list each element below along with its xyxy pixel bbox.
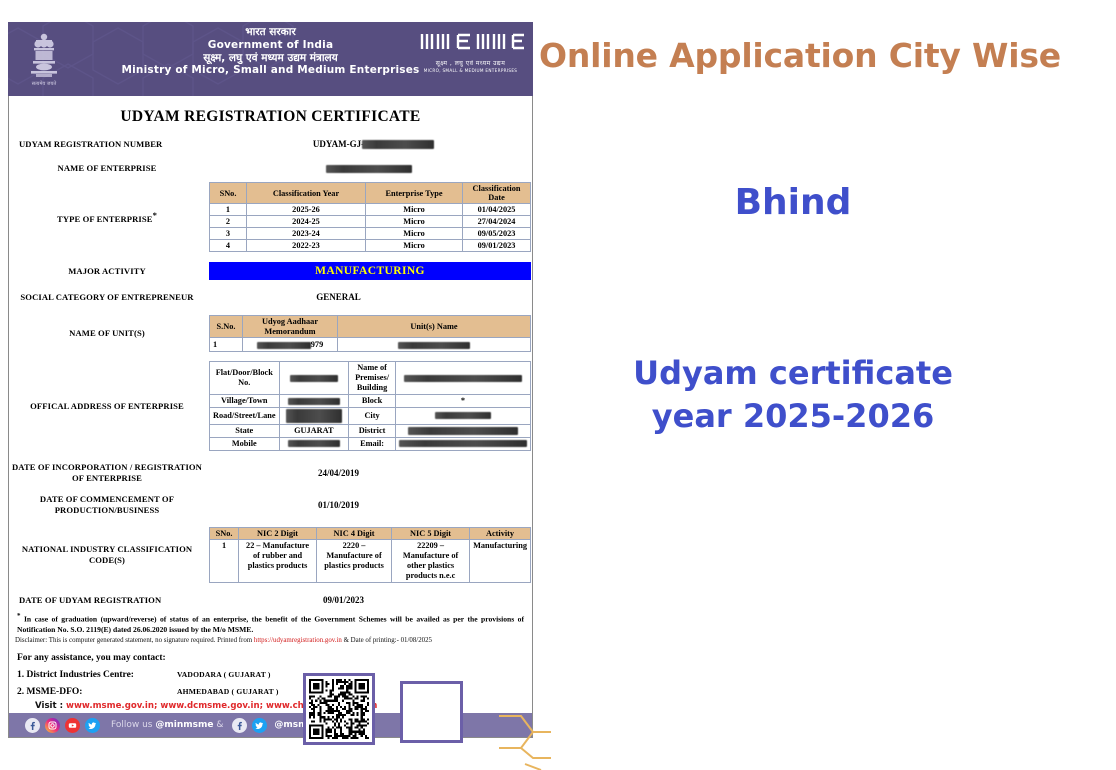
nic-table: SNo. NIC 2 Digit NIC 4 Digit NIC 5 Digit… [209,527,531,583]
msme-logo: सूक्ष्म , लघु एवं मध्यम उद्यम MICRO, SMA… [418,30,523,73]
major-activity-band-wrap: MANUFACTURING [205,262,531,280]
promo-subtitle-line2: year 2025-2026 [533,395,1053,438]
official-address-row: OFFICAL ADDRESS OF ENTERPRISE Flat/Door/… [9,361,532,451]
table-row: State GUJARAT District [210,424,531,437]
cell-value2 [396,424,531,437]
cell-date: 27/04/2024 [463,216,531,228]
visit-url-1[interactable]: www.msme.gov.in [66,701,154,711]
date-commencement-row: DATE OF COMMENCEMENT OF PRODUCTION/BUSIN… [9,494,532,515]
col-enterprise-type: Enterprise Type [366,183,463,204]
address-table: Flat/Door/Block No. Name of Premises/ Bu… [209,361,531,451]
table-header-row: SNo. NIC 2 Digit NIC 4 Digit NIC 5 Digit… [210,527,531,539]
col-classification-date: Classification Date [463,183,531,204]
cell-key: Village/Town [210,394,280,407]
units-table: S.No. Udyog Aadhaar Memorandum Unit(s) N… [209,315,531,352]
msme-wordmark-icon [418,30,528,52]
dic-label: 1. District Industries Centre: [17,670,177,680]
handle-minmsme[interactable]: @minmsme [155,720,213,730]
redaction-mark [290,375,338,382]
cell-value2: * [396,394,531,407]
type-of-enterprise-label-text: TYPE OF ENTERPRISE [57,214,153,224]
cell-key2: Name of Premises/ Building [349,362,396,395]
emblem-motto: सत्यमेव जयते [32,80,57,87]
cell-value: GUJARAT [279,424,349,437]
certificate-header-band: सत्यमेव जयते भारत सरकार Government of In… [8,22,533,96]
table-row: Road/Street/Lane City [210,407,531,424]
cell-key2: Block [349,394,396,407]
cell-udyog-aadhaar: 979 [243,338,338,352]
cell-sno: 4 [210,240,247,252]
cell-key: Road/Street/Lane [210,407,280,424]
cell-sno: 2 [210,216,247,228]
follow-amp: & [213,720,223,730]
major-activity-label: MAJOR ACTIVITY [9,266,205,277]
cell-key: State [210,424,280,437]
cell-udyog-suffix: 979 [311,340,323,349]
cell-year: 2023-24 [247,228,366,240]
date-incorporation-label: DATE OF INCORPORATION / REGISTRATION OF … [9,462,205,483]
udyam-number-prefix: UDYAM-GJ- [313,139,364,149]
redaction-mark [399,440,527,447]
twitter-icon[interactable] [252,718,267,733]
cell-value2 [396,362,531,395]
hexagon-decoration-icon [463,698,553,770]
redaction-mark [408,427,518,435]
col-udyog-aadhaar: Udyog Aadhaar Memorandum [243,316,338,338]
visit-label: Visit : [35,701,63,711]
promo-subtitle-line1: Udyam certificate [533,352,1053,395]
udyam-portal-link[interactable]: https://udyamregistration.gov.in [254,637,342,644]
contact-row-dic: 1. District Industries Centre: VADODARA … [9,663,532,680]
enterprise-name-label: NAME OF ENTERPRISE [9,163,205,174]
udyam-number-row: UDYAM REGISTRATION NUMBER UDYAM-GJ- [9,136,532,152]
cell-sno: 1 [210,338,243,352]
date-commencement-value: 01/10/2019 [205,500,532,510]
promo-title: Online Application City Wise [539,36,1114,75]
date-commencement-label: DATE OF COMMENCEMENT OF PRODUCTION/BUSIN… [9,494,205,515]
cell-value2 [396,407,531,424]
nic-table-wrap: SNo. NIC 2 Digit NIC 4 Digit NIC 5 Digit… [205,527,531,583]
cell-year: 2024-25 [247,216,366,228]
table-row: 3 2023-24 Micro 09/05/2023 [210,228,531,240]
nic-label: NATIONAL INDUSTRY CLASSIFICATION CODE(S) [9,544,205,565]
cell-nic5: 22209 – Manufacture of other plastics pr… [392,539,470,582]
redaction-mark [288,398,340,405]
cell-year: 2025-26 [247,204,366,216]
facebook-icon[interactable] [25,718,40,733]
promo-panel: Online Application City Wise Bhind Udyam… [533,0,1116,753]
official-address-label: OFFICAL ADDRESS OF ENTERPRISE [9,401,205,412]
cell-type: Micro [366,228,463,240]
col-sno: SNo. [210,527,239,539]
note-text: In case of graduation (upward/reverse) o… [17,615,524,634]
date-udyam-registration-row: DATE OF UDYAM REGISTRATION 09/01/2023 [9,592,532,608]
certificate-body: UDYAM REGISTRATION CERTIFICATE UDYAM REG… [8,96,533,738]
redaction-mark [404,375,522,382]
col-sno: SNo. [210,183,247,204]
major-activity-row: MAJOR ACTIVITY MANUFACTURING [9,262,532,280]
cell-key: Mobile [210,437,280,450]
redaction-mark [398,342,470,349]
cell-unit-name [338,338,531,352]
social-category-label: SOCIAL CATEGORY OF ENTREPRENEUR [9,292,205,303]
disclaimer-prefix: Disclaimer: This is computer generated s… [15,637,254,644]
disclaimer-suffix: & Date of printing:- 01/08/2025 [342,637,432,644]
cell-nic2: 22 – Manufacture of rubber and plastics … [239,539,317,582]
promo-subtitle: Udyam certificate year 2025-2026 [533,352,1053,438]
dfo-label: 2. MSME-DFO: [17,687,177,697]
classification-table-wrap: SNo. Classification Year Enterprise Type… [205,182,531,252]
cell-value2 [396,437,531,450]
disclaimer: Disclaimer: This is computer generated s… [9,635,532,645]
address-table-wrap: Flat/Door/Block No. Name of Premises/ Bu… [205,361,531,451]
qr-code[interactable] [303,673,375,745]
certificate-title: UDYAM REGISTRATION CERTIFICATE [9,96,532,134]
cell-year: 2022-23 [247,240,366,252]
name-of-units-row: NAME OF UNIT(S) S.No. Udyog Aadhaar Memo… [9,315,532,352]
graduation-note: * In case of graduation (upward/reverse)… [9,608,532,635]
classification-table: SNo. Classification Year Enterprise Type… [209,182,531,252]
enterprise-name-value [205,163,532,173]
cell-sno: 3 [210,228,247,240]
cell-key2: Email: [349,437,396,450]
follow-label: Follow us [111,720,155,730]
col-activity: Activity [470,527,531,539]
type-of-enterprise-label: TYPE OF ENTERPRISE* [9,210,205,225]
screenshot-root: सत्यमेव जयते भारत सरकार Government of In… [0,0,1116,753]
redaction-mark [286,409,342,423]
social-category-value: GENERAL [205,292,532,302]
qr-code-canvas [309,679,369,739]
cell-value [279,362,349,395]
cell-value [279,407,349,424]
date-incorporation-row: DATE OF INCORPORATION / REGISTRATION OF … [9,462,532,483]
date-udyam-registration-label: DATE OF UDYAM REGISTRATION [9,595,215,606]
visit-url-2[interactable]: www.dcmsme.gov.in [160,701,259,711]
table-row: Village/Town Block * [210,394,531,407]
social-category-row: SOCIAL CATEGORY OF ENTREPRENEUR GENERAL [9,289,532,305]
cell-type: Micro [366,216,463,228]
cell-sno: 1 [210,204,247,216]
major-activity-value: MANUFACTURING [209,262,531,280]
facebook-icon[interactable] [232,718,247,733]
name-of-units-label: NAME OF UNIT(S) [9,328,205,339]
col-sno: S.No. [210,316,243,338]
col-unit-name: Unit(s) Name [338,316,531,338]
table-row: 4 2022-23 Micro 09/01/2023 [210,240,531,252]
redaction-mark [288,440,340,447]
cell-value [279,394,349,407]
redaction-mark [362,140,434,149]
assistance-heading: For any assistance, you may contact: [9,645,532,663]
udyam-number-label: UDYAM REGISTRATION NUMBER [9,139,215,150]
udyam-certificate: सत्यमेव जयते भारत सरकार Government of In… [8,22,533,738]
msme-sub-english: MICRO, SMALL & MEDIUM ENTERPRISES [418,68,523,73]
table-row: 1 22 – Manufacture of rubber and plastic… [210,539,531,582]
cell-type: Micro [366,204,463,216]
cell-date: 09/05/2023 [463,228,531,240]
cell-type: Micro [366,240,463,252]
cell-key2: City [349,407,396,424]
msme-sub-hindi: सूक्ष्म , लघु एवं मध्यम उद्यम [418,59,523,67]
dic-value: VADODARA ( GUJARAT ) [177,670,271,679]
note-asterisk: * [17,612,21,620]
instagram-icon[interactable] [45,718,60,733]
table-header-row: SNo. Classification Year Enterprise Type… [210,183,531,204]
footnote-asterisk: * [153,210,157,220]
cell-date: 01/04/2025 [463,204,531,216]
empty-placeholder-box [400,681,463,743]
date-udyam-registration-value: 09/01/2023 [215,595,532,605]
dfo-value: AHMEDABAD ( GUJARAT ) [177,687,279,696]
table-row: Mobile Email: [210,437,531,450]
table-header-row: S.No. Udyog Aadhaar Memorandum Unit(s) N… [210,316,531,338]
cell-date: 09/01/2023 [463,240,531,252]
col-nic2: NIC 2 Digit [239,527,317,539]
col-nic5: NIC 5 Digit [392,527,470,539]
redaction-mark [257,342,311,349]
cell-key2: District [349,424,396,437]
cell-value [279,437,349,450]
units-table-wrap: S.No. Udyog Aadhaar Memorandum Unit(s) N… [205,315,531,352]
nic-row: NATIONAL INDUSTRY CLASSIFICATION CODE(S)… [9,527,532,583]
table-row: 1 979 [210,338,531,352]
cell-key: Flat/Door/Block No. [210,362,280,395]
visit-separator-1: ; [154,701,157,711]
redaction-mark [435,412,491,419]
cell-nic4: 2220 – Manufacture of plastics products [317,539,392,582]
col-nic4: NIC 4 Digit [317,527,392,539]
redaction-mark [326,165,412,173]
twitter-icon[interactable] [85,718,100,733]
cell-sno: 1 [210,539,239,582]
udyam-number-value: UDYAM-GJ- [215,139,532,149]
visit-separator-2: ; [260,701,263,711]
youtube-icon[interactable] [65,718,80,733]
date-incorporation-value: 24/04/2019 [205,468,532,478]
cell-activity: Manufacturing [470,539,531,582]
enterprise-name-row: NAME OF ENTERPRISE [9,160,532,176]
table-row: 1 2025-26 Micro 01/04/2025 [210,204,531,216]
table-row: Flat/Door/Block No. Name of Premises/ Bu… [210,362,531,395]
col-classification-year: Classification Year [247,183,366,204]
follow-text: Follow us @minmsme & [111,720,223,730]
table-row: 2 2024-25 Micro 27/04/2024 [210,216,531,228]
promo-city-name: Bhind [533,182,1053,223]
type-of-enterprise-row: TYPE OF ENTERPRISE* SNo. Classification … [9,182,532,252]
